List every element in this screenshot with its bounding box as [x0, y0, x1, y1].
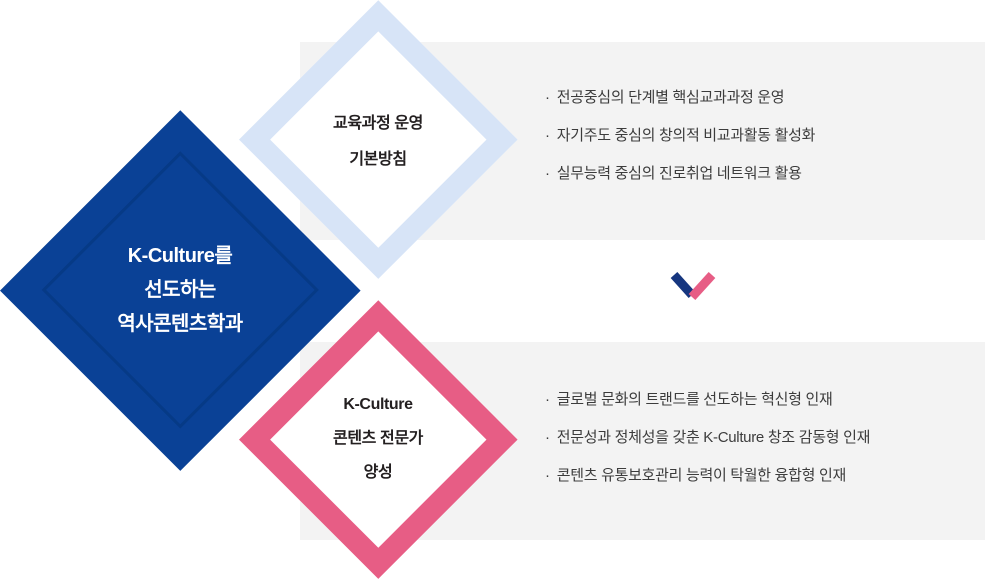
chevron-down-icon — [670, 270, 716, 304]
list-item: · 전공중심의 단계별 핵심교과과정 운영 — [545, 86, 815, 124]
list-item-text: 전공중심의 단계별 핵심교과과정 운영 — [557, 86, 785, 107]
infographic-canvas: K-Culture를 선도하는 역사콘텐츠학과 교육과정 운영 기본방침 K-C… — [0, 0, 985, 581]
list-item: · 콘텐츠 유통보호관리 능력이 탁월한 융합형 인재 — [545, 464, 870, 502]
bullet-marker-icon: · — [545, 430, 550, 445]
main-diamond-inner-outline — [41, 151, 318, 428]
top-bullet-list: · 전공중심의 단계별 핵심교과과정 운영 · 자기주도 중심의 창의적 비교과… — [545, 86, 815, 200]
list-item-text: 실무능력 중심의 진로취업 네트워크 활용 — [557, 162, 802, 183]
list-item-text: 자기주도 중심의 창의적 비교과활동 활성화 — [557, 124, 815, 145]
list-item: · 실무능력 중심의 진로취업 네트워크 활용 — [545, 162, 815, 200]
bottom-bullet-list: · 글로벌 문화의 트랜드를 선도하는 혁신형 인재 · 전문성과 정체성을 갖… — [545, 388, 870, 502]
list-item-text: 콘텐츠 유통보호관리 능력이 탁월한 융합형 인재 — [557, 464, 846, 485]
list-item: · 자기주도 중심의 창의적 비교과활동 활성화 — [545, 124, 815, 162]
bullet-marker-icon: · — [545, 166, 550, 181]
bullet-marker-icon: · — [545, 468, 550, 483]
list-item-text: 글로벌 문화의 트랜드를 선도하는 혁신형 인재 — [557, 388, 833, 409]
bullet-marker-icon: · — [545, 90, 550, 105]
list-item: · 글로벌 문화의 트랜드를 선도하는 혁신형 인재 — [545, 388, 870, 426]
list-item: · 전문성과 정체성을 갖춘 K-Culture 창조 감동형 인재 — [545, 426, 870, 464]
bullet-marker-icon: · — [545, 128, 550, 143]
list-item-text: 전문성과 정체성을 갖춘 K-Culture 창조 감동형 인재 — [557, 426, 870, 447]
bullet-marker-icon: · — [545, 392, 550, 407]
